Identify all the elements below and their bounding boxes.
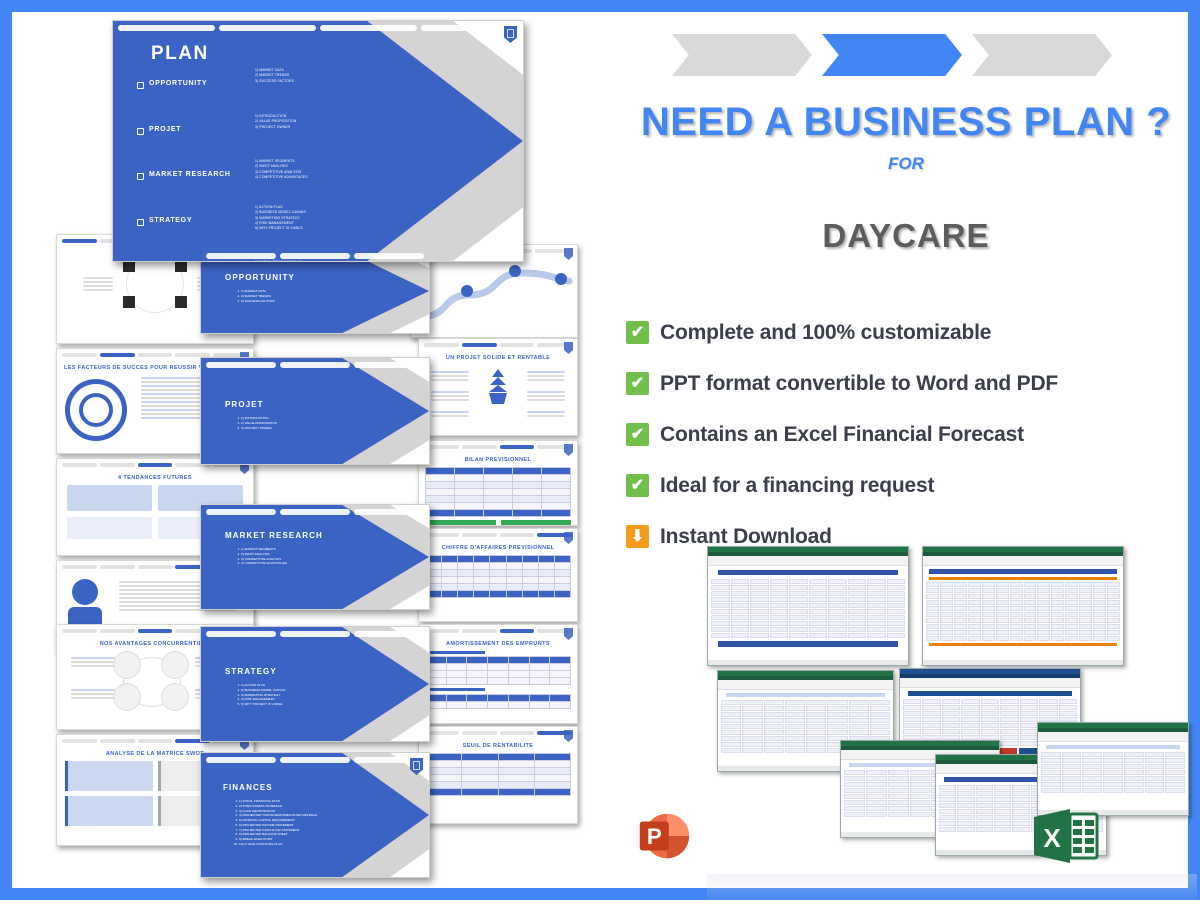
- check-icon: ✔: [626, 321, 649, 344]
- plan-section-item: 2) VALUE PROPOSITION: [255, 119, 296, 124]
- section-item: 2) BUSINESS MODEL CANVAS: [241, 688, 285, 693]
- slide-nav-strip: [419, 339, 577, 349]
- section-item: 2) VALUE PROPOSITION: [241, 421, 277, 426]
- slide-nav-strip: [206, 253, 424, 259]
- plan-section-label: MARKET RESEARCH: [149, 171, 231, 178]
- checkbox-icon: [137, 82, 144, 89]
- svg-text:P: P: [647, 824, 662, 849]
- feature-label: Contains an Excel Financial Forecast: [660, 423, 1024, 447]
- slide-title: CHIFFRE D'AFFAIRES PREVISIONNEL: [419, 545, 577, 551]
- plan-slide: PLAN OPPORTUNITY1) MARKET DATA2) MARKET …: [112, 20, 524, 262]
- plant-icon: [481, 365, 515, 405]
- plan-section-items: 1) ACTION PLAN2) BUSINESS MODEL CANVAS3)…: [255, 205, 306, 232]
- section-slide-market-research: MARKET RESEARCH 1) MARKET SEGMENTS2) SWO…: [200, 504, 430, 610]
- section-item: 10) 3-YEAR FINANCING PLAN: [239, 842, 317, 847]
- slide-title: SEUIL DE RENTABILITE: [419, 743, 577, 749]
- section-slide-strategy: STRATEGY 1) ACTION PLAN2) BUSINESS MODEL…: [200, 626, 430, 742]
- chevron-banner: [672, 34, 1112, 76]
- shield-icon: [564, 628, 573, 640]
- excel-thumb-2: [922, 546, 1124, 666]
- checkbox-icon: [137, 128, 144, 135]
- plan-section-items: 1) MARKET SEGMENTS2) SWOT ANALYSIS3) COM…: [255, 159, 308, 180]
- feature-item: ✔Ideal for a financing request: [626, 460, 1196, 511]
- excel-logo: X: [1030, 805, 1100, 867]
- breakeven-table: [425, 753, 571, 796]
- chevron-segment-right: [972, 34, 1112, 76]
- background-slide: UN PROJET SOLIDE ET RENTABLE: [418, 338, 578, 436]
- check-icon: ✔: [626, 474, 649, 497]
- feature-label: PPT format convertible to Word and PDF: [660, 372, 1058, 396]
- plan-section-label: STRATEGY: [149, 217, 192, 224]
- section-items: 1) INITIAL FINANCING PLAN2) FIXED ASSETS…: [229, 799, 317, 847]
- forecast-table: [425, 555, 571, 598]
- check-icon: ✔: [626, 372, 649, 395]
- section-slide-projet: PROJET 1) INTRODUCTION2) VALUE PROPOSITI…: [200, 357, 430, 465]
- section-item: 5) WHY PROJECT IS VIABLE: [241, 702, 285, 707]
- feature-list: ✔Complete and 100% customizable✔PPT form…: [626, 307, 1196, 562]
- checkbox-icon: [137, 173, 144, 180]
- slide-nav-strip: [419, 529, 577, 539]
- checkbox-icon: [137, 219, 144, 226]
- excel-thumb-7: [1037, 722, 1189, 816]
- background-slide: BILAN PREVISIONNEL: [418, 440, 578, 526]
- feature-item: ✔Contains an Excel Financial Forecast: [626, 409, 1196, 460]
- feature-label: Complete and 100% customizable: [660, 321, 991, 345]
- check-icon: ✔: [626, 423, 649, 446]
- svg-text:X: X: [1043, 823, 1061, 853]
- shield-icon: [564, 342, 573, 354]
- feature-label: Ideal for a financing request: [660, 474, 934, 498]
- section-item: 4) COMPETITIVE ADVANTAGES: [241, 561, 287, 566]
- slide-title: AMORTISSEMENT DES EMPRUNTS: [419, 641, 577, 647]
- background-slide: AMORTISSEMENT DES EMPRUNTS: [418, 624, 578, 724]
- plan-section-item: 5) WHY PROJECT IS VIABLE: [255, 226, 306, 231]
- shield-icon: [564, 730, 573, 742]
- section-item: 2) MARKET TRENDS: [241, 294, 275, 299]
- section-title: OPPORTUNITY: [225, 273, 295, 282]
- forecast-table: [425, 467, 571, 517]
- slide-nav-strip: [206, 362, 424, 368]
- headline-connector: FOR: [612, 154, 1200, 174]
- section-items: 1) INTRODUCTION2) VALUE PROPOSITION3) PR…: [231, 416, 277, 430]
- plan-title: PLAN: [151, 43, 209, 65]
- section-items: 1) MARKET DATA2) MARKET TRENDS3) SUCCESS…: [231, 289, 275, 303]
- plan-section-item: 4) COMPETITIVE ADVANTAGES: [255, 175, 308, 180]
- page-title: NEED A BUSINESS PLAN ?: [612, 100, 1200, 145]
- slide-nav-strip: [118, 25, 518, 31]
- section-items: 1) MARKET SEGMENTS2) SWOT ANALYSIS3) COM…: [231, 547, 287, 566]
- plan-section-items: 1) INTRODUCTION2) VALUE PROPOSITION3) PR…: [255, 114, 296, 130]
- section-items: 1) ACTION PLAN2) BUSINESS MODEL CANVAS3)…: [231, 683, 285, 707]
- powerpoint-logo: P: [632, 805, 694, 867]
- plan-section-label: PROJET: [149, 126, 181, 133]
- slide-nav-strip: [419, 727, 577, 737]
- plan-section-label: OPPORTUNITY: [149, 80, 207, 87]
- section-item: 3) PROJECT OWNER: [241, 426, 277, 431]
- excel-screenshot-cluster: [707, 542, 1197, 872]
- plan-section-item: 3) PROJECT OWNER: [255, 125, 296, 130]
- feature-item: ✔PPT format convertible to Word and PDF: [626, 358, 1196, 409]
- plan-section-items: 1) INITIAL FINANCING PLAN2) FIXED ASSETS…: [255, 260, 344, 262]
- shield-icon: [564, 444, 573, 456]
- section-slide-finances: FINANCES 1) INITIAL FINANCING PLAN2) FIX…: [200, 752, 430, 878]
- promo-content: NEED A BUSINESS PLAN ? FOR DAYCARE ✔Comp…: [612, 12, 1200, 888]
- slide-nav-strip: [206, 757, 424, 763]
- slide-title: BILAN PREVISIONNEL: [419, 457, 577, 463]
- slide-deck-collage: LES FACTEURS DE SUCCES POUR REUSSIR VOTR…: [12, 12, 612, 888]
- background-slide: SEUIL DE RENTABILITE: [418, 726, 578, 824]
- background-slide: CHIFFRE D'AFFAIRES PREVISIONNEL: [418, 528, 578, 622]
- plan-section-item: 2) MARKET TRENDS: [255, 73, 294, 78]
- slide-nav-strip: [206, 631, 424, 637]
- download-icon: ⬇: [626, 525, 649, 548]
- loan-table-2: [425, 694, 571, 709]
- feature-item: ✔Complete and 100% customizable: [626, 307, 1196, 358]
- section-title: MARKET RESEARCH: [225, 531, 323, 540]
- section-title: FINANCES: [223, 783, 273, 792]
- promo-banner: LES FACTEURS DE SUCCES POUR REUSSIR VOTR…: [0, 0, 1200, 900]
- plan-section-item: 2) BUSINESS MODEL CANVAS: [255, 210, 306, 215]
- plan-section-item: 3) SUCCESS FACTORS: [255, 79, 294, 84]
- plan-section-item: 1) INITIAL FINANCING PLAN: [255, 260, 344, 262]
- slide-title: 4 TENDANCES FUTURES: [57, 475, 253, 481]
- slide-nav-strip: [206, 509, 424, 515]
- section-item: 3) SUCCESS FACTORS: [241, 299, 275, 304]
- section-title: STRATEGY: [225, 667, 277, 676]
- plan-section-items: 1) MARKET DATA2) MARKET TRENDS3) SUCCESS…: [255, 68, 294, 84]
- section-title: PROJET: [225, 400, 264, 409]
- business-subject: DAYCARE: [612, 217, 1200, 255]
- chevron-segment-middle: [822, 34, 962, 76]
- excel-thumb-1: [707, 546, 909, 666]
- chevron-segment-left: [672, 34, 812, 76]
- slide-title: UN PROJET SOLIDE ET RENTABLE: [419, 355, 577, 361]
- roadmap-icon: [411, 255, 577, 325]
- slide-nav-strip: [419, 625, 577, 635]
- shield-icon: [564, 532, 573, 544]
- slide-nav-strip: [419, 441, 577, 451]
- loan-table: [425, 656, 571, 685]
